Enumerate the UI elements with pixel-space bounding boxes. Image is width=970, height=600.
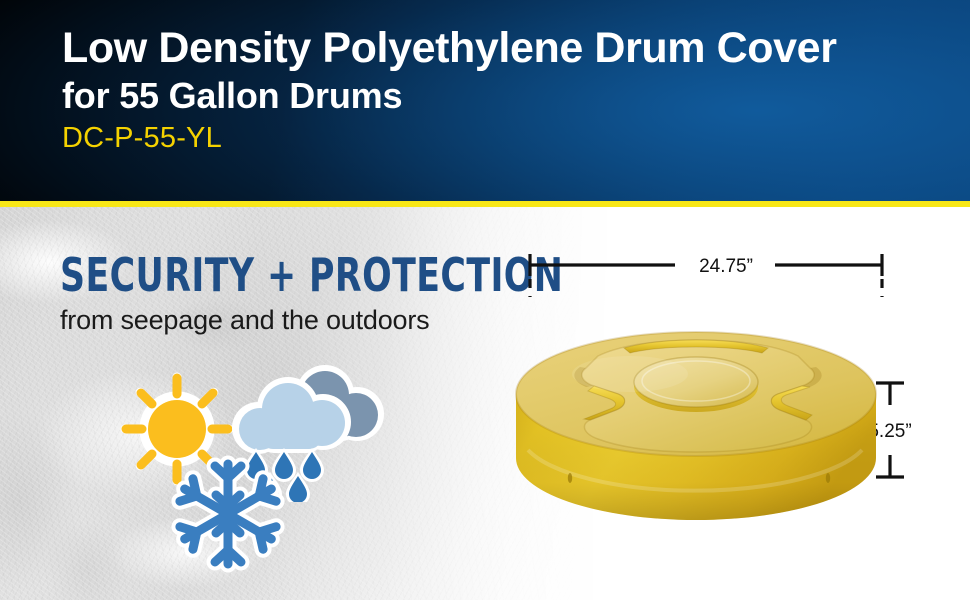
page-title: Low Density Polyethylene Drum Cover	[62, 22, 950, 74]
weather-icon-group	[110, 357, 390, 587]
dimension-width-label: 24.75”	[699, 256, 753, 277]
header-text-block: Low Density Polyethylene Drum Cover for …	[62, 22, 950, 158]
drum-cover-product-image	[510, 282, 882, 547]
product-banner: Low Density Polyethylene Drum Cover for …	[0, 0, 970, 600]
part-number: DC-P-55-YL	[62, 118, 950, 158]
page-subtitle: for 55 Gallon Drums	[62, 74, 950, 118]
marketing-headline: SECURITY + PROTECTION	[60, 252, 563, 298]
banner-header: Low Density Polyethylene Drum Cover for …	[0, 0, 970, 201]
marketing-subhead: from seepage and the outdoors	[60, 304, 429, 336]
snowflake-icon	[168, 453, 288, 575]
product-figure: 24.75” 5.25”	[490, 227, 960, 557]
banner-body: SECURITY + PROTECTION from seepage and t…	[0, 207, 970, 600]
